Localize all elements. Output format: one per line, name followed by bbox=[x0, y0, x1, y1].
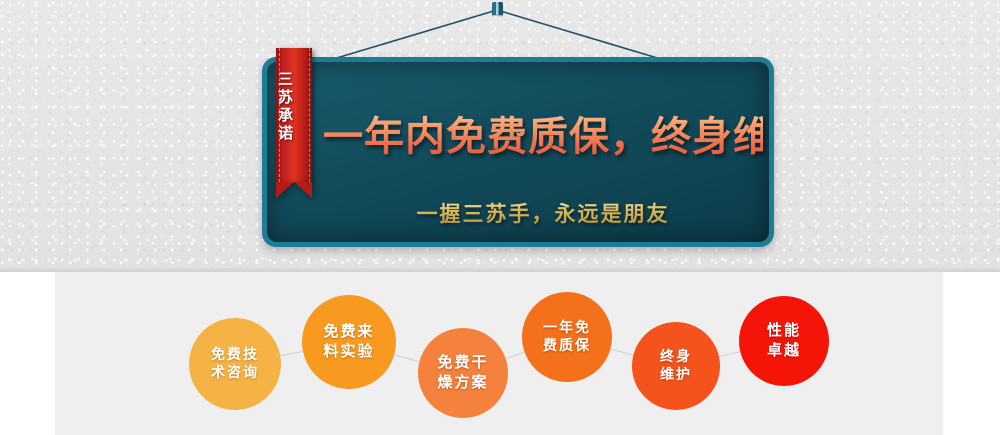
feature-circle-label: 免费来料实验 bbox=[323, 322, 374, 362]
banner-subline: 一握三苏手，永远是朋友 bbox=[323, 198, 763, 228]
promise-banner: 三苏承诺 一年内免费质保，终身维护 一握三苏手，永远是朋友 bbox=[262, 57, 774, 247]
ribbon-tail-icon bbox=[276, 182, 312, 198]
feature-label-line1: 免费技 bbox=[211, 346, 259, 364]
feature-circle-label: 免费技术咨询 bbox=[211, 346, 259, 383]
feature-circle-label: 免费干燥方案 bbox=[437, 353, 488, 393]
feature-label-line2: 费质保 bbox=[543, 337, 591, 355]
banner-inner-panel: 三苏承诺 一年内免费质保，终身维护 一握三苏手，永远是朋友 bbox=[267, 62, 769, 242]
feature-label-line2: 卓越 bbox=[767, 341, 801, 361]
feature-label-line1: 性能 bbox=[767, 321, 801, 341]
feature-label-line1: 免费来 bbox=[323, 322, 374, 342]
feature-circle-4[interactable]: 一年免费质保 bbox=[522, 292, 612, 382]
feature-circle-3[interactable]: 免费干燥方案 bbox=[418, 328, 508, 418]
feature-label-line2: 维护 bbox=[660, 366, 692, 384]
feature-circle-2[interactable]: 免费来料实验 bbox=[302, 295, 396, 389]
hero-top-section: 三苏承诺 一年内免费质保，终身维护 一握三苏手，永远是朋友 bbox=[0, 0, 1000, 272]
hanger-nail-icon bbox=[492, 2, 503, 15]
feature-label-line1: 免费干 bbox=[437, 353, 488, 373]
feature-circle-6[interactable]: 性能卓越 bbox=[739, 296, 829, 386]
feature-label-line2: 料实验 bbox=[323, 342, 374, 362]
features-section: 免费技术咨询免费来料实验免费干燥方案一年免费质保终身维护性能卓越 bbox=[0, 272, 1000, 435]
feature-circle-label: 一年免费质保 bbox=[543, 319, 591, 356]
feature-label-line1: 一年免 bbox=[543, 319, 591, 337]
banner-headline: 一年内免费质保，终身维护 bbox=[323, 104, 763, 162]
feature-label-line2: 术咨询 bbox=[211, 364, 259, 382]
features-panel: 免费技术咨询免费来料实验免费干燥方案一年免费质保终身维护性能卓越 bbox=[55, 272, 943, 435]
feature-circle-5[interactable]: 终身维护 bbox=[632, 322, 720, 410]
ribbon-label: 三苏承诺 bbox=[267, 71, 303, 143]
feature-label-line2: 燥方案 bbox=[437, 373, 488, 393]
feature-label-line1: 终身 bbox=[660, 348, 692, 366]
feature-circle-label: 性能卓越 bbox=[767, 321, 801, 361]
feature-circle-label: 终身维护 bbox=[660, 348, 692, 385]
feature-circle-1[interactable]: 免费技术咨询 bbox=[189, 318, 281, 410]
